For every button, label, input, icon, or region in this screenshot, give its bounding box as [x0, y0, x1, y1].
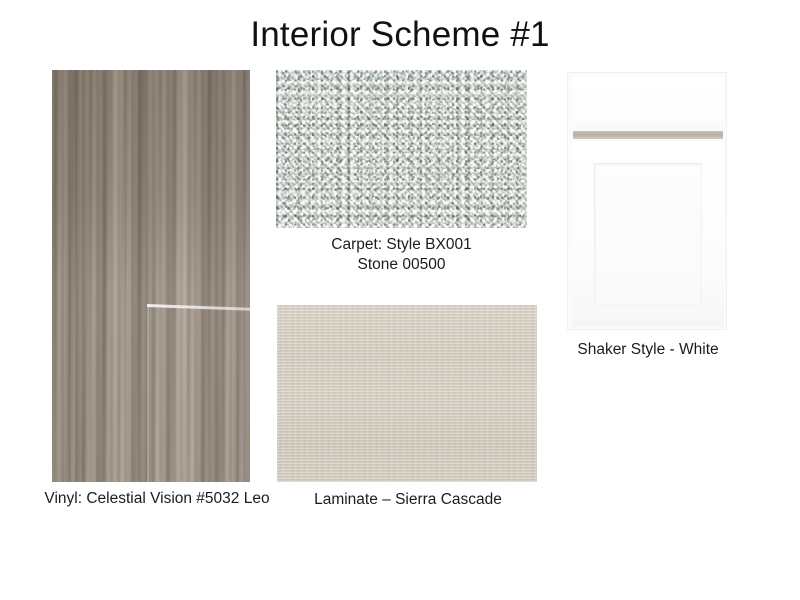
vinyl-plank-swatch — [52, 70, 250, 482]
page-title: Interior Scheme #1 — [0, 14, 800, 56]
vinyl-plank-caption: Vinyl: Celestial Vision #5032 Leo — [12, 489, 302, 509]
cabinet-door-face — [572, 141, 724, 327]
cabinet-door-sample — [567, 72, 727, 330]
vinyl-tone-overlay — [52, 70, 250, 292]
laminate-swatch — [277, 305, 537, 482]
vinyl-plank-seam-horizontal — [147, 304, 250, 311]
cabinet-drawer-front — [572, 77, 724, 131]
carpet-swatch — [276, 70, 527, 228]
cabinet-shadow-gap — [573, 131, 723, 139]
laminate-caption: Laminate – Sierra Cascade — [288, 490, 528, 510]
interior-scheme-board: Interior Scheme #1 Vinyl: Celestial Visi… — [0, 0, 800, 600]
carpet-caption: Carpet: Style BX001 Stone 00500 — [276, 235, 527, 275]
cabinet-door-caption: Shaker Style - White — [552, 340, 744, 360]
vinyl-plank-seam-vertical — [147, 304, 149, 482]
cabinet-recessed-panel — [594, 163, 702, 305]
